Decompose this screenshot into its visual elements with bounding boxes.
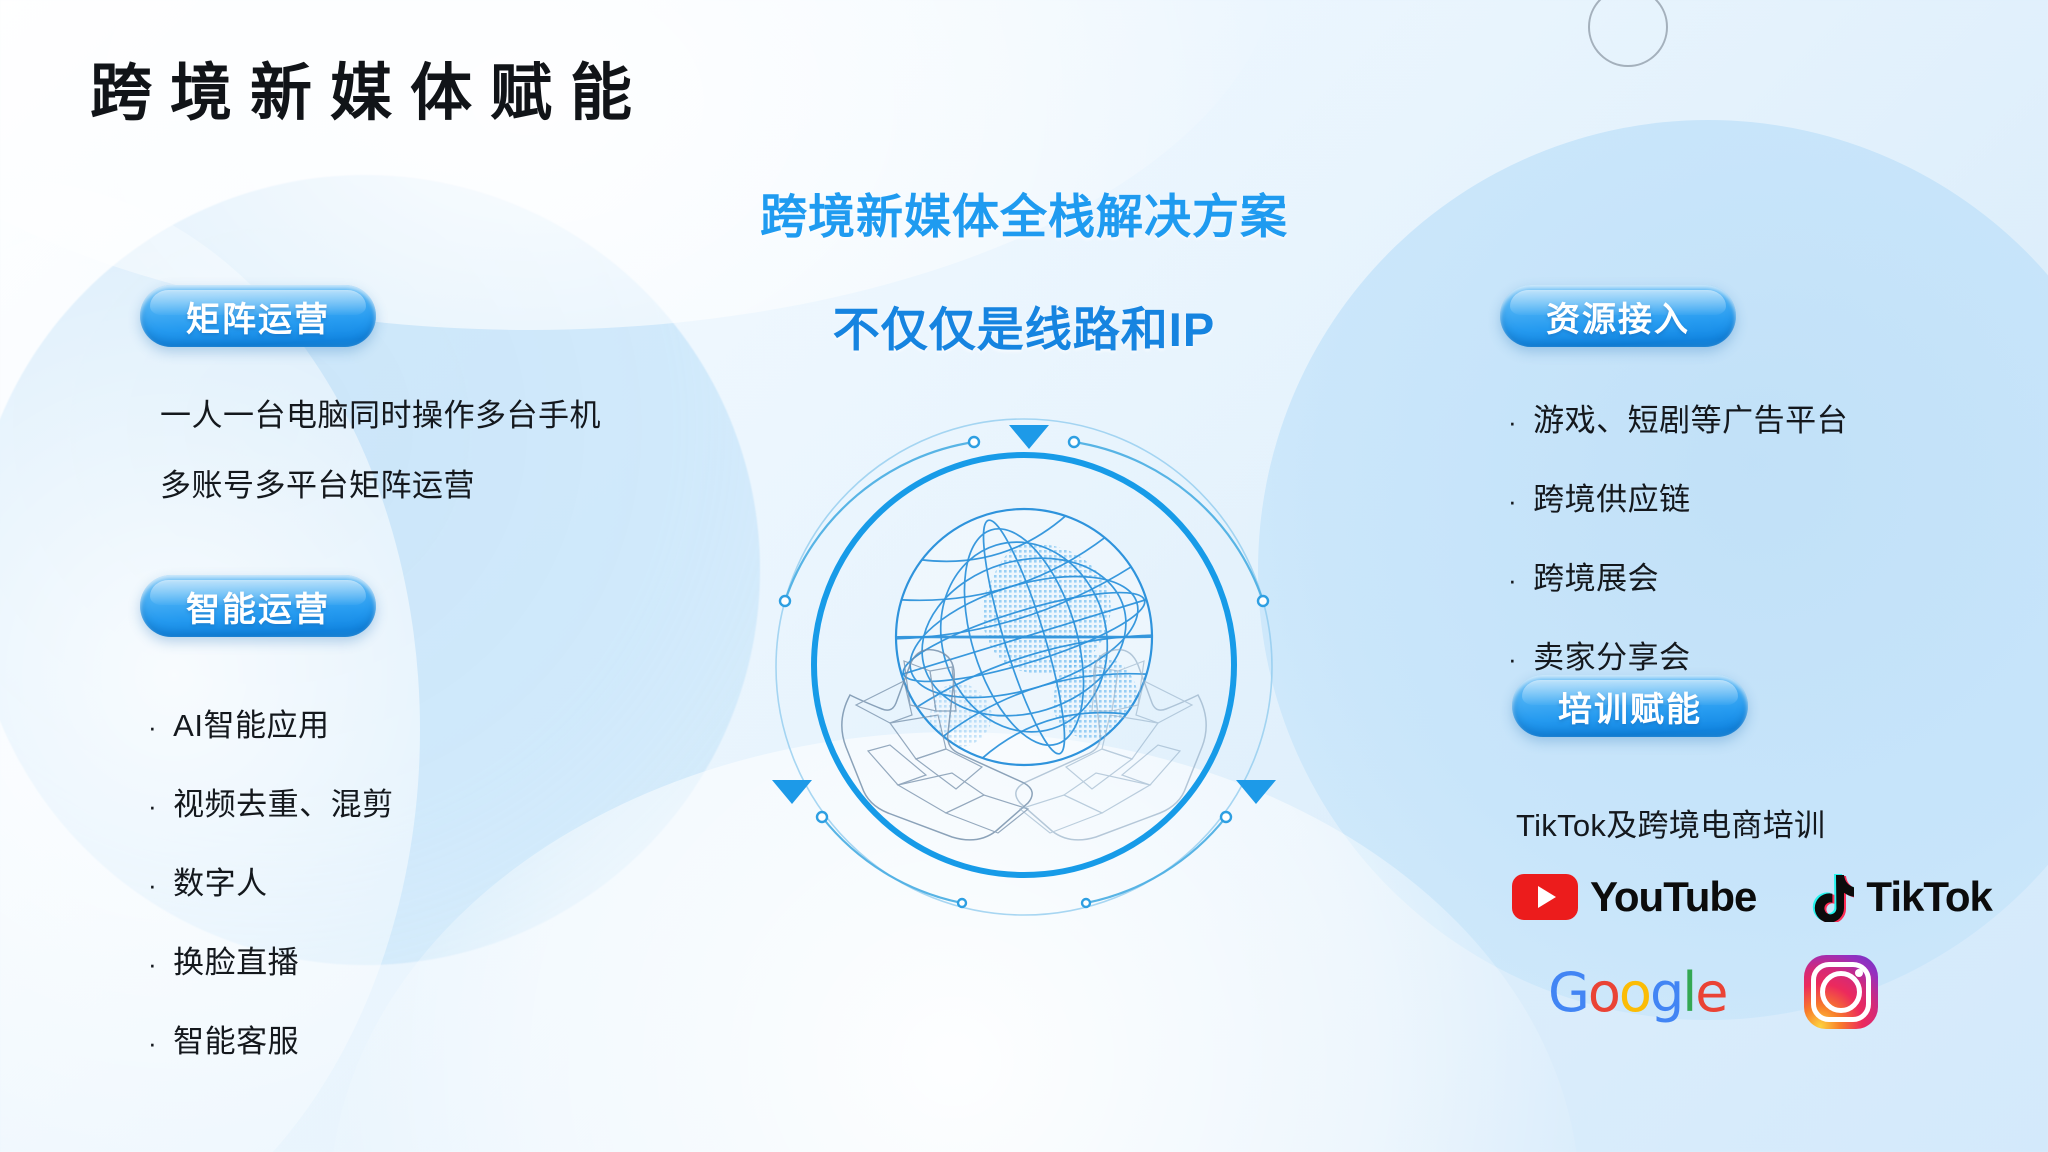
youtube-play-icon bbox=[1512, 874, 1578, 920]
globe-illustration-icon bbox=[764, 405, 1284, 925]
left-section-matrix: 矩阵运营 bbox=[140, 285, 376, 347]
google-letter-o1: o bbox=[1588, 961, 1619, 1024]
instagram-dot-icon bbox=[1855, 969, 1863, 977]
bullet-dot-icon: · bbox=[1508, 488, 1517, 514]
list-item: · 跨境展会 bbox=[1508, 553, 1848, 598]
list-item-label: 智能客服 bbox=[173, 1016, 299, 1061]
youtube-logo-label: YouTube bbox=[1590, 873, 1756, 921]
pill-matrix-operations[interactable]: 矩阵运营 bbox=[140, 285, 376, 347]
bullet-dot-icon: · bbox=[1508, 646, 1517, 672]
bullet-dot-icon: · bbox=[1508, 567, 1517, 593]
pill-resource-access[interactable]: 资源接入 bbox=[1500, 285, 1736, 347]
decorative-ring-icon bbox=[1588, 0, 1668, 67]
left-matrix-text-2: 多账号多平台矩阵运营 bbox=[160, 470, 475, 501]
list-item: · 游戏、短剧等广告平台 bbox=[1508, 395, 1848, 440]
google-letter-g1: G bbox=[1548, 961, 1588, 1024]
training-description: TikTok及跨境电商培训 bbox=[1516, 800, 1825, 845]
list-item: · 智能客服 bbox=[148, 1016, 394, 1061]
instagram-logo[interactable] bbox=[1804, 955, 1878, 1029]
list-item: · 数字人 bbox=[148, 858, 394, 903]
page-title: 跨境新媒体赋能 bbox=[90, 42, 650, 132]
list-item: · AI智能应用 bbox=[148, 700, 394, 745]
tiktok-logo-label: TikTok bbox=[1866, 873, 1991, 921]
google-letter-o2: o bbox=[1619, 961, 1650, 1024]
list-item-label: 视频去重、混剪 bbox=[173, 779, 394, 824]
youtube-logo[interactable]: YouTube bbox=[1512, 873, 1756, 921]
bullet-dot-icon: · bbox=[148, 951, 157, 977]
training-description-text: TikTok及跨境电商培训 bbox=[1516, 800, 1825, 845]
list-item-label: 跨境供应链 bbox=[1533, 474, 1691, 519]
list-item-label: 换脸直播 bbox=[173, 937, 299, 982]
google-letter-l: l bbox=[1682, 961, 1695, 1024]
list-item-label: 游戏、短剧等广告平台 bbox=[1533, 395, 1848, 440]
logo-row-top: YouTube TikTok bbox=[1512, 872, 1992, 922]
pill-training-empowerment[interactable]: 培训赋能 bbox=[1512, 675, 1748, 737]
right-resources-list: · 游戏、短剧等广告平台 · 跨境供应链 · 跨境展会 · 卖家分享会 bbox=[1508, 395, 1848, 677]
center-heading-line-1: 跨境新媒体全栈解决方案 bbox=[574, 178, 1474, 247]
list-item: · 视频去重、混剪 bbox=[148, 779, 394, 824]
list-item-label: 跨境展会 bbox=[1533, 553, 1659, 598]
list-item: · 卖家分享会 bbox=[1508, 632, 1848, 677]
tiktok-logo[interactable]: TikTok bbox=[1810, 872, 1991, 922]
list-item-label: AI智能应用 bbox=[173, 700, 329, 745]
logo-row-bottom: Google bbox=[1548, 955, 1878, 1029]
google-letter-e: e bbox=[1695, 961, 1726, 1024]
instagram-lens-icon bbox=[1820, 971, 1862, 1013]
list-item-label: 卖家分享会 bbox=[1533, 632, 1691, 677]
right-section-training: 培训赋能 bbox=[1512, 675, 1748, 737]
bullet-dot-icon: · bbox=[148, 714, 157, 740]
left-matrix-line-2: 多账号多平台矩阵运营 bbox=[160, 470, 475, 501]
bullet-dot-icon: · bbox=[148, 1030, 157, 1056]
bullet-dot-icon: · bbox=[148, 793, 157, 819]
google-logo[interactable]: Google bbox=[1548, 961, 1726, 1024]
right-section-resources: 资源接入 bbox=[1500, 285, 1736, 347]
center-heading-line-2: 不仅仅是线路和IP bbox=[574, 291, 1474, 360]
center-heading-group: 跨境新媒体全栈解决方案 不仅仅是线路和IP bbox=[574, 178, 1474, 360]
bullet-dot-icon: · bbox=[148, 872, 157, 898]
pill-smart-operations[interactable]: 智能运营 bbox=[140, 575, 376, 637]
left-matrix-text-1: 一人一台电脑同时操作多台手机 bbox=[160, 400, 601, 431]
left-section-smart: 智能运营 bbox=[140, 575, 376, 637]
list-item: · 跨境供应链 bbox=[1508, 474, 1848, 519]
list-item-label: 数字人 bbox=[173, 858, 268, 903]
google-letter-g2: g bbox=[1650, 961, 1682, 1024]
list-item: · 换脸直播 bbox=[148, 937, 394, 982]
globe-in-hands-illustration bbox=[764, 405, 1284, 925]
bullet-dot-icon: · bbox=[1508, 409, 1517, 435]
tiktok-note-icon bbox=[1810, 872, 1854, 922]
left-smart-list: · AI智能应用 · 视频去重、混剪 · 数字人 · 换脸直播 · 智能客服 bbox=[148, 700, 394, 1061]
left-matrix-line-1: 一人一台电脑同时操作多台手机 bbox=[160, 400, 601, 431]
